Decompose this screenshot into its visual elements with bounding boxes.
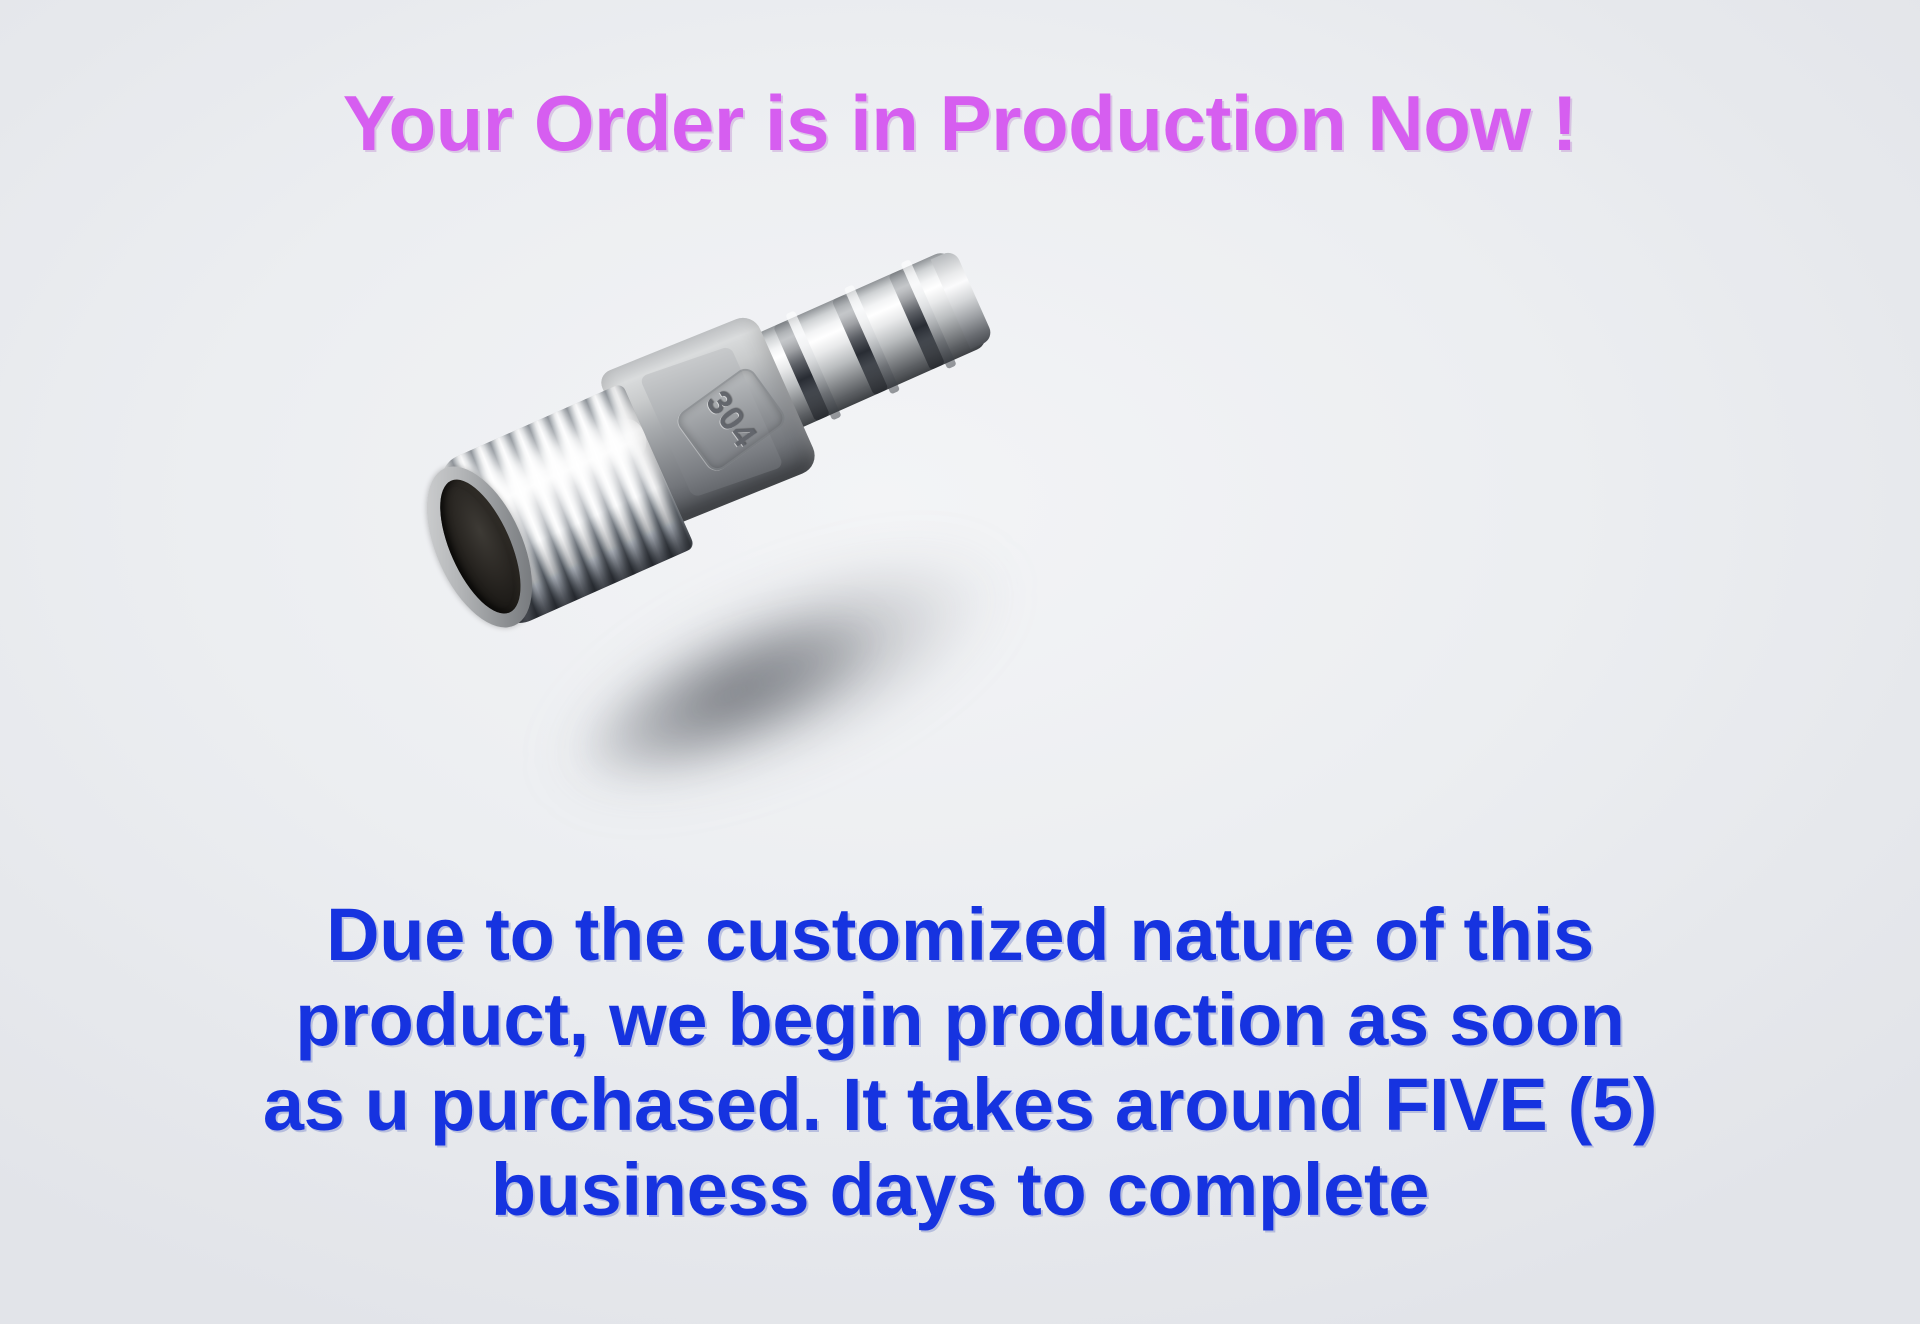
notice-line: Due to the customized nature of this [60, 892, 1860, 977]
notice-line: product, we begin production as soon [60, 977, 1860, 1062]
promo-banner: Your Order is in Production Now ! 304 [0, 0, 1920, 1324]
product-photo: 304 [455, 300, 1155, 760]
hose-barb-fitting: 304 [342, 129, 1169, 834]
notice-line: as u purchased. It takes around FIVE (5) [60, 1062, 1860, 1147]
production-notice: Due to the customized nature of this pro… [60, 892, 1860, 1232]
notice-line: business days to complete [60, 1147, 1860, 1232]
